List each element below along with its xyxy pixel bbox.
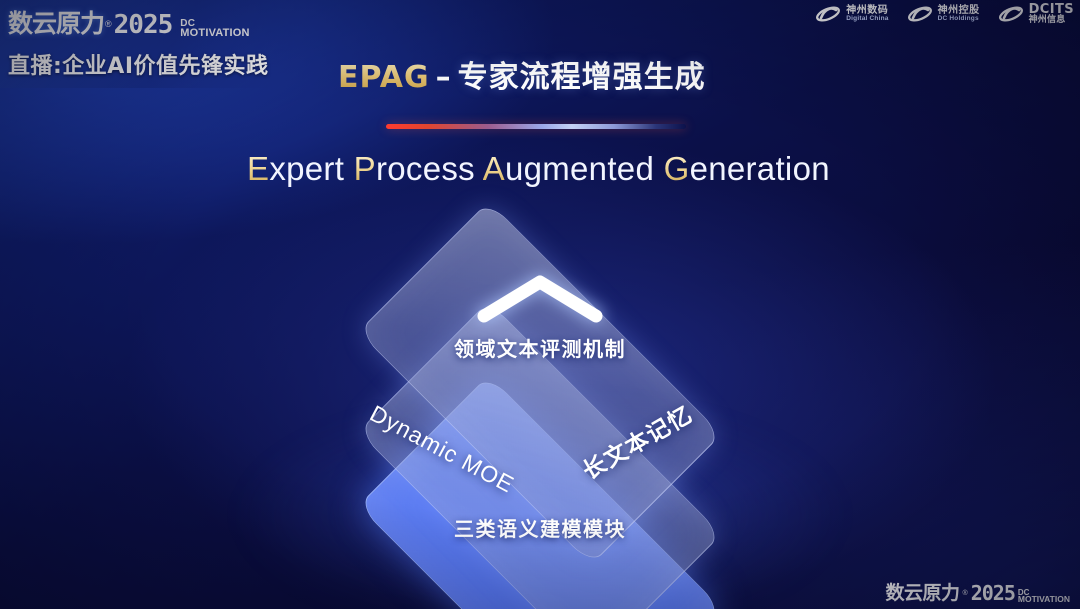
plate-face xyxy=(358,201,722,565)
watermark-motivation: MOTIVATION xyxy=(1018,596,1070,604)
corner-watermark-logo: 数云原力 ® 2025 DC MOTIVATION xyxy=(886,578,1070,605)
watermark-cn: 数云原力 xyxy=(886,578,960,605)
chevron-up-icon xyxy=(474,270,606,326)
registered-mark-icon: ® xyxy=(963,590,968,597)
layer-label-top: 领域文本评测机制 xyxy=(454,333,626,362)
watermark-year: 2025 xyxy=(971,581,1015,605)
layer-label-bottom: 三类语义建模模块 xyxy=(454,513,626,542)
slide-canvas: 数云原力 ® 2025 DC MOTIVATION 直播:企业AI价值先锋实践 … xyxy=(0,0,1080,609)
layer-plate-top xyxy=(375,218,705,548)
layer-stack-diagram: 领域文本评测机制 Dynamic MOE 长文本记忆 三类语义建模模块 xyxy=(0,0,1080,609)
